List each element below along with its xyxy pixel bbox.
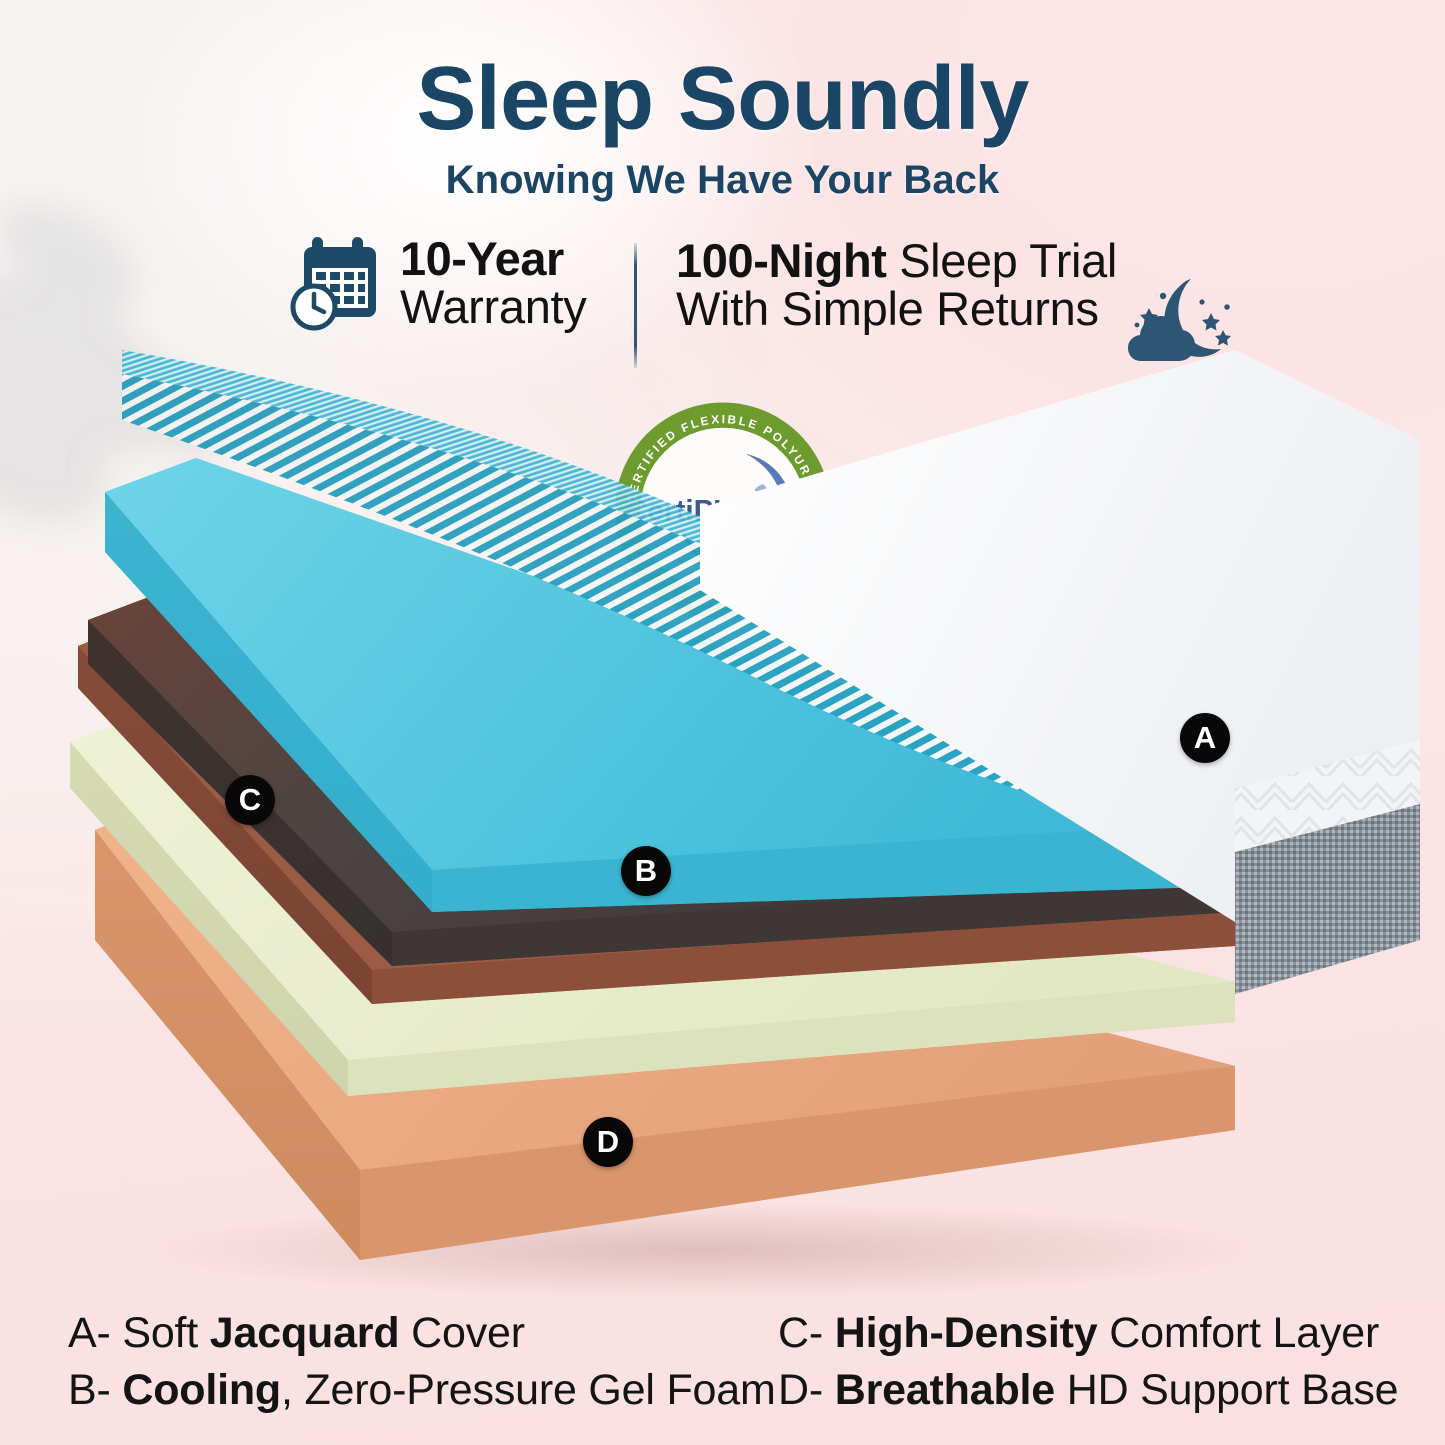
mattress-layers-illustration [0, 470, 1445, 1280]
trial-line-1-rest: Sleep Trial [887, 234, 1117, 287]
sleep-trial-text: 100-Night Sleep Trial With Simple Return… [676, 237, 1117, 334]
legend-item-b-bold: Cooling [122, 1366, 281, 1414]
warranty-duration: 10-Year [400, 235, 587, 283]
legend-item-d-bold: Breathable [835, 1366, 1055, 1414]
warranty-text: 10-Year Warranty [400, 235, 587, 332]
page-title: Sleep Soundly [0, 54, 1445, 144]
marker-d-label: D [597, 1126, 619, 1157]
badge-divider [634, 243, 637, 368]
legend-item-c-rest: Comfort Layer [1098, 1309, 1380, 1357]
layer-marker-a[interactable]: A [1180, 713, 1230, 763]
legend-item-d: D- Breathable HD Support Base [778, 1362, 1398, 1419]
layer-marker-d[interactable]: D [583, 1117, 633, 1167]
warranty-label: Warranty [400, 283, 587, 331]
legend-item-b-rest: , Zero-Pressure Gel Foam [281, 1366, 776, 1414]
legend-item-a-rest: Cover [399, 1309, 524, 1357]
legend: A- Soft Jacquard Cover B- Cooling, Zero-… [0, 1305, 1445, 1425]
sleep-trial-badge: 100-Night Sleep Trial With Simple Return… [676, 237, 1239, 367]
legend-item-d-rest: HD Support Base [1055, 1366, 1398, 1414]
trust-badges: 10-Year Warranty 100-Night Sleep Trial W… [0, 231, 1445, 371]
legend-item-b-key: B- [68, 1366, 122, 1414]
legend-column-left: A- Soft Jacquard Cover B- Cooling, Zero-… [68, 1305, 776, 1419]
trial-nights: 100-Night [676, 234, 887, 287]
legend-item-c-key: C- [778, 1309, 835, 1357]
legend-item-c-bold: High-Density [835, 1309, 1098, 1357]
legend-item-a: A- Soft Jacquard Cover [68, 1305, 776, 1362]
infographic-canvas: Sleep Soundly Knowing We Have Your Back [0, 0, 1445, 1445]
legend-item-d-key: D- [778, 1366, 835, 1414]
page-subtitle: Knowing We Have Your Back [0, 158, 1445, 203]
legend-item-b: B- Cooling, Zero-Pressure Gel Foam [68, 1362, 776, 1419]
legend-item-a-key: A- Soft [68, 1309, 210, 1357]
calendar-clock-icon [288, 235, 384, 331]
legend-item-c: C- High-Density Comfort Layer [778, 1305, 1398, 1362]
legend-item-a-bold: Jacquard [210, 1309, 400, 1357]
trial-line-1: 100-Night Sleep Trial [676, 237, 1117, 285]
legend-column-right: C- High-Density Comfort Layer D- Breatha… [778, 1305, 1398, 1419]
trial-line-2: With Simple Returns [676, 285, 1117, 333]
moon-cloud-stars-icon [1127, 275, 1239, 367]
warranty-badge: 10-Year Warranty [288, 235, 587, 332]
layer-marker-c[interactable]: C [225, 775, 275, 825]
marker-c-label: C [239, 784, 261, 815]
marker-b-label: B [635, 855, 657, 886]
layer-marker-b[interactable]: B [621, 846, 671, 896]
marker-a-label: A [1194, 722, 1216, 753]
